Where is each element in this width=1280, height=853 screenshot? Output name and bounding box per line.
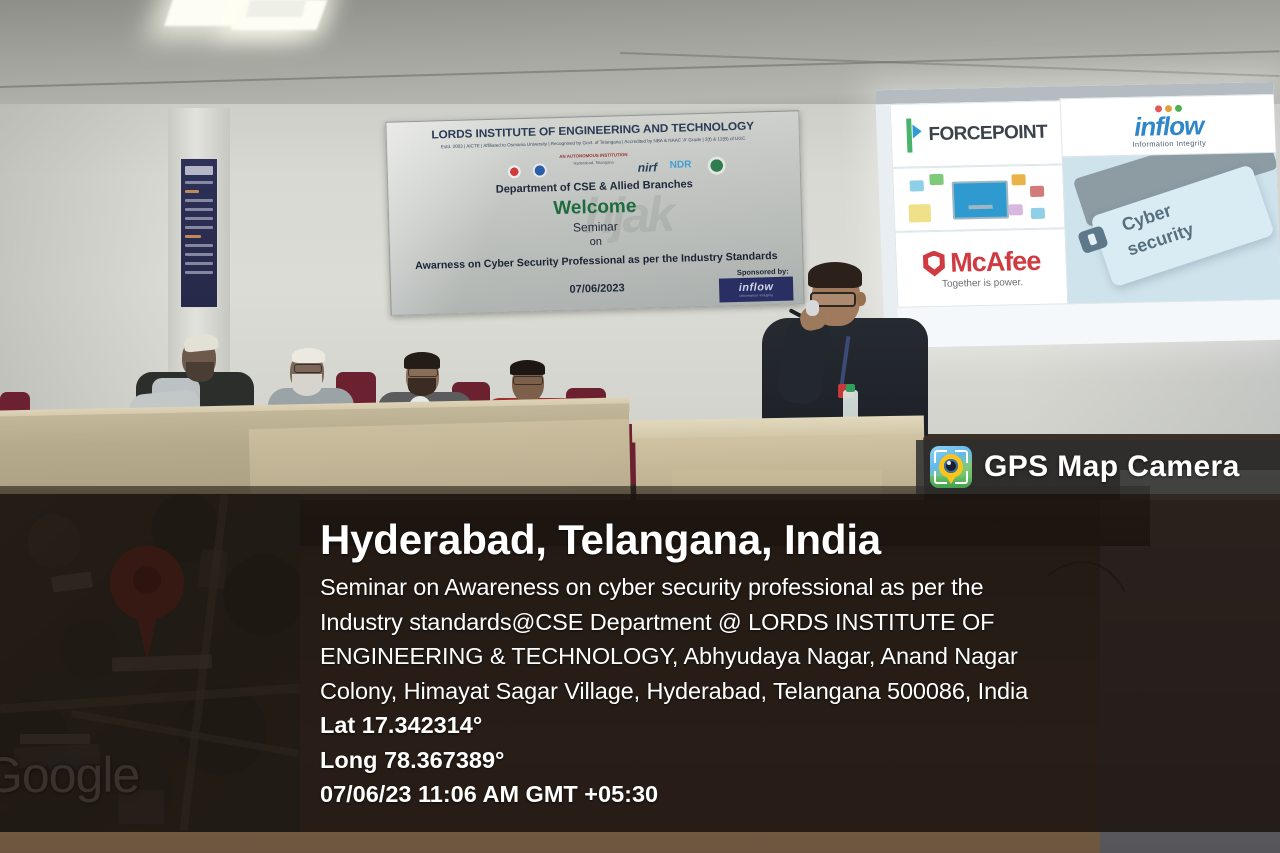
accreditation-logo-icon <box>508 165 521 178</box>
gps-map-camera-label: GPS Map Camera <box>984 450 1240 484</box>
ndr-logo-text: NDR <box>670 159 692 171</box>
location-title: Hyderabad, Telangana, India <box>320 518 1280 562</box>
devices-icon <box>903 170 1055 227</box>
university-logo-icon <box>533 163 547 177</box>
beard <box>186 362 214 382</box>
forcepoint-logo-cell: FORCEPOINT <box>890 100 1064 168</box>
wall-notice-poster <box>180 158 218 308</box>
microphone-icon <box>806 300 819 316</box>
mcafee-label: McAfee <box>950 246 1041 279</box>
description-line: Colony, Himayat Sagar Village, Hyderabad… <box>320 674 1280 709</box>
eyeglasses <box>408 368 438 377</box>
eyeglasses <box>294 364 322 373</box>
projected-slide: FORCEPOINT inflow Information Integrity <box>890 96 1280 348</box>
ceiling-light-fixture <box>246 0 307 17</box>
prayer-cap <box>292 348 325 363</box>
banner-sponsor-logo: inflow information integrity <box>719 277 794 303</box>
ear <box>856 292 866 306</box>
icon-corner-bracket <box>934 471 947 484</box>
inflow-logo-cell: inflow Information Integrity <box>1060 94 1278 158</box>
institute-seal-icon <box>707 156 725 174</box>
photo-screenshot: hjak LORDS INSTITUTE OF ENGINEERING AND … <box>0 0 1280 853</box>
hair <box>404 352 440 369</box>
icon-corner-bracket <box>955 450 968 463</box>
devices-illustration-cell <box>892 164 1066 232</box>
timestamp-value: 07/06/23 11:06 AM GMT +05:30 <box>320 777 1280 812</box>
hair <box>808 262 862 288</box>
description-line: ENGINEERING & TECHNOLOGY, Abhyudaya Naga… <box>320 639 1280 674</box>
location-info-panel: Hyderabad, Telangana, India Seminar on A… <box>320 494 1280 832</box>
beard <box>292 374 322 396</box>
sponsor-tagline: information integrity <box>739 293 773 298</box>
projector-screen: FORCEPOINT inflow Information Integrity <box>875 82 1280 348</box>
beard <box>408 378 436 396</box>
icon-corner-bracket <box>955 471 968 484</box>
gps-map-camera-watermark: GPS Map Camera <box>916 440 1280 494</box>
mcafee-logo-cell: McAfee Together is power. <box>895 228 1070 308</box>
description-line: Industry standards@CSE Department @ LORD… <box>320 605 1280 640</box>
mcafee-tagline: Together is power. <box>942 277 1024 290</box>
eyeglasses <box>513 376 543 385</box>
nirf-logo-text: nirf <box>638 160 658 175</box>
hair <box>510 360 545 375</box>
event-banner: hjak LORDS INSTITUTE OF ENGINEERING AND … <box>385 110 804 315</box>
inflow-tagline: Information Integrity <box>1132 138 1206 149</box>
banner-sponsored-label: Sponsored by: <box>737 267 789 277</box>
forcepoint-icon <box>906 118 923 152</box>
inflow-label: inflow <box>1134 112 1204 139</box>
forcepoint-label: FORCEPOINT <box>928 122 1047 146</box>
longitude-value: Long 78.367389° <box>320 743 1280 778</box>
icon-corner-bracket <box>934 450 947 463</box>
mcafee-shield-icon <box>923 250 946 276</box>
description-line: Seminar on Awareness on cyber security p… <box>320 570 1280 605</box>
gps-map-camera-icon <box>930 446 972 488</box>
cyber-security-image-cell: Cyber security <box>1062 152 1280 304</box>
latitude-value: Lat 17.342314° <box>320 708 1280 743</box>
